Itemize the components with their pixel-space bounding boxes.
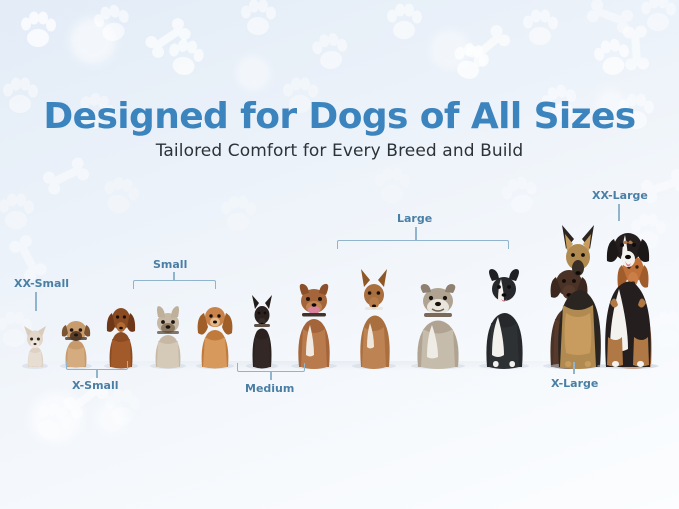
- dog-cavalier-king-charles: [192, 289, 238, 369]
- dog-chihuahua: [18, 317, 52, 369]
- connector-stem-medium: [270, 371, 272, 380]
- dog-lineup: [0, 0, 679, 509]
- dog-french-bulldog: [146, 297, 190, 369]
- dog-basenji-mix: [348, 261, 400, 369]
- size-label-medium: Medium: [245, 382, 294, 395]
- size-label-large: Large: [397, 212, 432, 225]
- size-label-xx-large: XX-Large: [592, 189, 648, 202]
- dog-pit-bull-terrier: [286, 269, 342, 369]
- dog-bernese-mountain-dog: [592, 197, 664, 369]
- dog-english-bulldog: [406, 273, 470, 369]
- connector-stem-small: [173, 272, 175, 280]
- connector-stem-xx-large: [618, 204, 620, 221]
- connector-stem-xx-small: [35, 292, 37, 311]
- bracket-small: [133, 280, 216, 289]
- dog-border-collie: [474, 257, 534, 369]
- size-label-small: Small: [153, 258, 187, 271]
- size-label-x-large: X-Large: [551, 377, 598, 390]
- dog-dachshund: [100, 293, 142, 369]
- size-label-x-small: X-Small: [72, 379, 119, 392]
- size-label-xx-small: XX-Small: [14, 277, 69, 290]
- connector-stem-large: [415, 227, 417, 240]
- poster-canvas: Designed for Dogs of All Sizes Tailored …: [0, 0, 679, 509]
- connector-stem-x-large: [573, 362, 575, 374]
- dog-miniature-pinscher: [242, 285, 282, 369]
- dog-puggle: [56, 307, 96, 369]
- bracket-large: [337, 240, 509, 249]
- connector-stem-x-small: [96, 369, 98, 378]
